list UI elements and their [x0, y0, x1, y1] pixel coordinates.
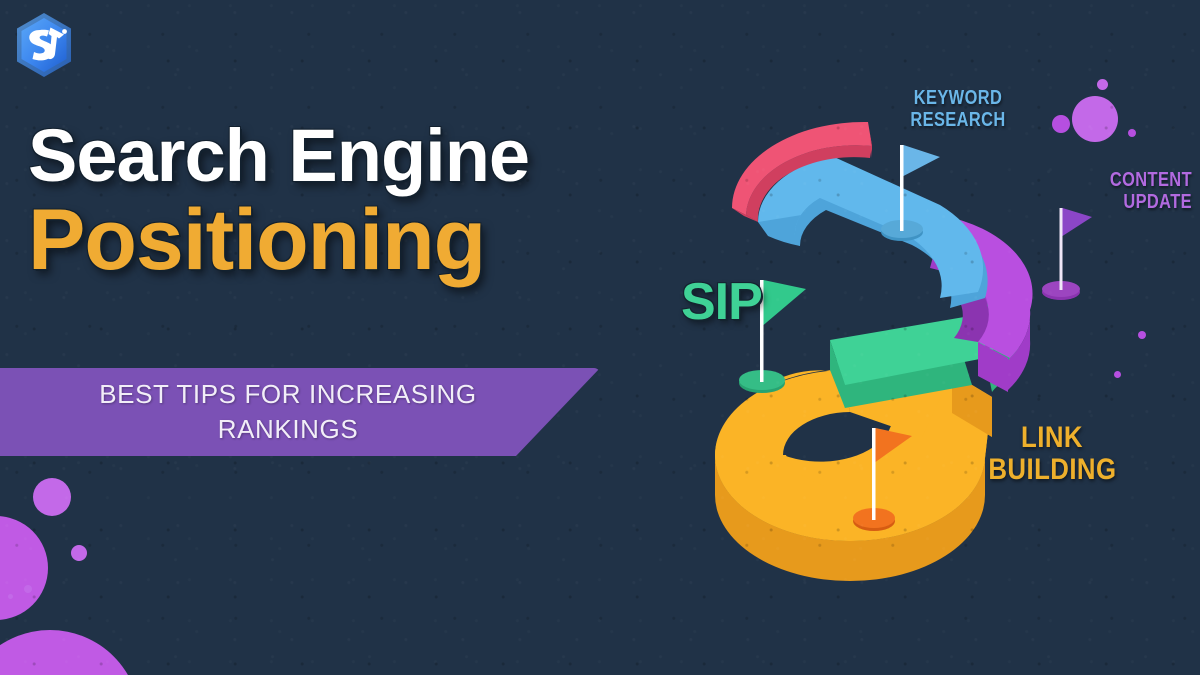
- st-hexagon-logo-icon: [14, 12, 74, 78]
- flag-content-update: [1042, 208, 1092, 300]
- deco-circle-bottom-left-tiny: [24, 585, 32, 593]
- label-content-update: CONTENT UPDATE: [1071, 170, 1192, 213]
- label-link-building: LINK BUILDING: [988, 422, 1115, 487]
- deco-circle-bottom-left-large: [0, 516, 48, 620]
- brand-logo[interactable]: [14, 12, 74, 78]
- road-segment-blue: [758, 156, 988, 308]
- subtitle-banner: BEST TIPS FOR INCREASING RANKINGS: [0, 368, 600, 456]
- page-title-line-2: Positioning: [28, 197, 648, 283]
- headline-block: Search Engine Positioning: [28, 121, 648, 283]
- deco-circle-bottom-left-tiny-2: [8, 594, 13, 599]
- label-keyword-research: KEYWORD RESEARCH: [909, 88, 1007, 131]
- deco-circle-bottom-left-small: [71, 545, 87, 561]
- label-sip: SIP: [681, 274, 762, 330]
- page-title-line-1: Search Engine: [28, 121, 648, 191]
- deco-circle-bottom-left-medium: [33, 478, 71, 516]
- subtitle-text: BEST TIPS FOR INCREASING RANKINGS: [58, 377, 518, 447]
